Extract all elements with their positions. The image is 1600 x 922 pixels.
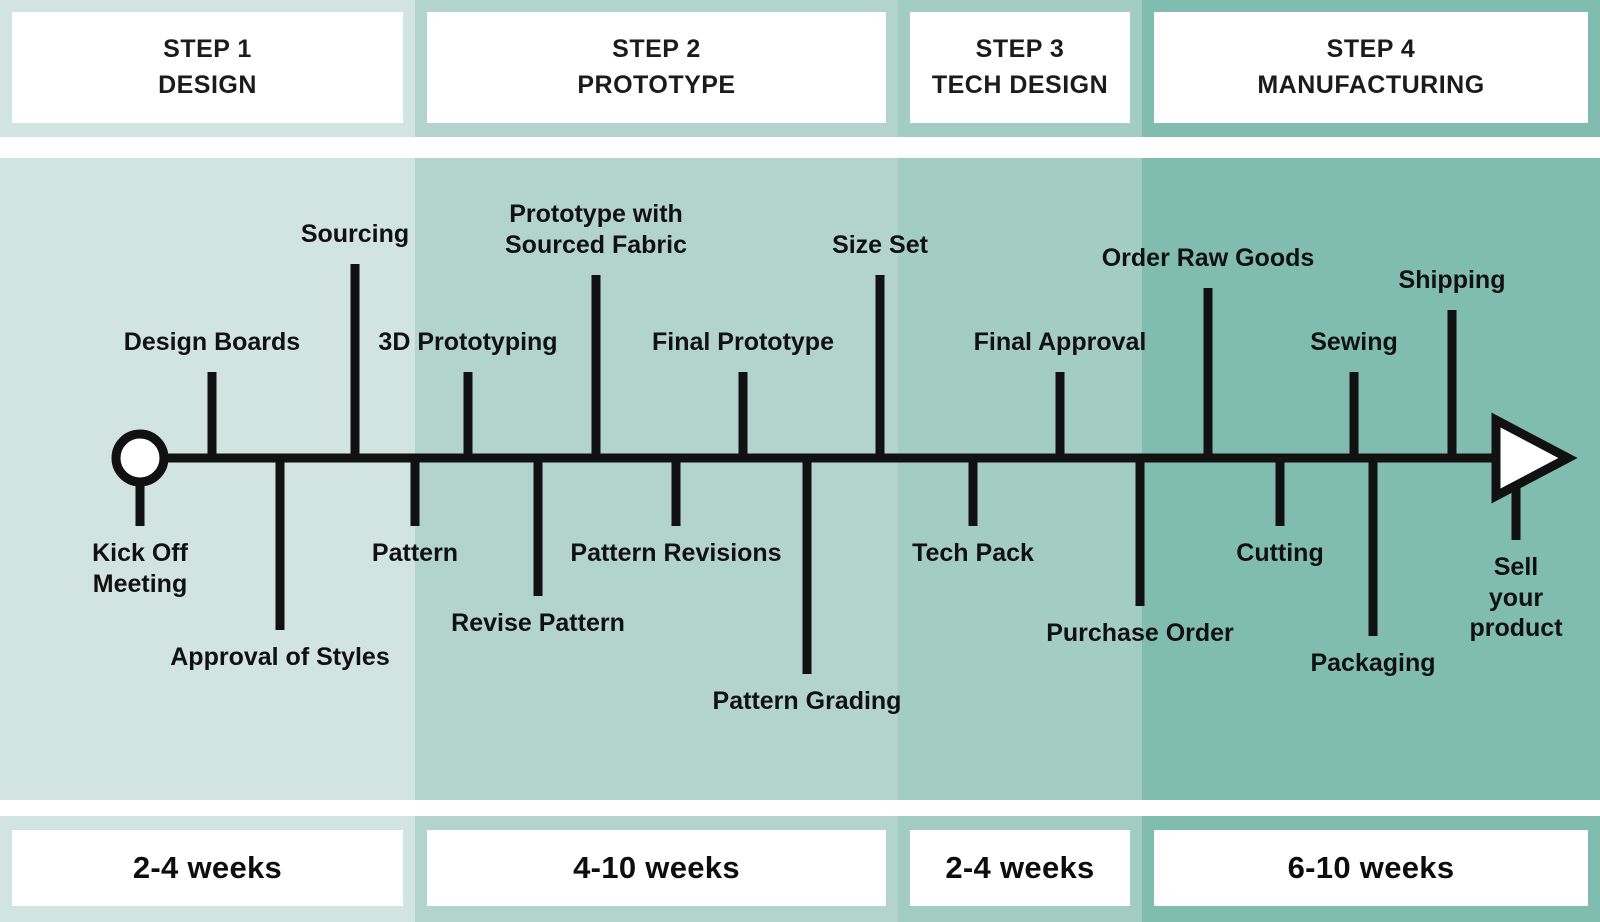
milestone-label-pattern-grading: Pattern Grading (713, 686, 902, 717)
duration-box-step-2[interactable]: 4-10 weeks (427, 830, 886, 906)
header-box-step-1[interactable]: STEP 1DESIGN (12, 12, 403, 123)
timeline-start-circle-icon (116, 434, 164, 482)
milestone-label-packaging: Packaging (1310, 648, 1435, 679)
milestone-label-prototype-with-sourced-fabric: Prototype with Sourced Fabric (505, 199, 687, 260)
step-name-step-2: PROTOTYPE (577, 68, 735, 104)
step-name-step-1: DESIGN (158, 68, 257, 104)
step-number-step-4: STEP 4 (1327, 32, 1416, 68)
milestone-label-sourcing: Sourcing (301, 219, 409, 250)
timeline-infographic: STEP 1DESIGNSTEP 2PROTOTYPESTEP 3TECH DE… (0, 0, 1600, 922)
milestone-label-pattern: Pattern (372, 538, 458, 569)
header-box-step-2[interactable]: STEP 2PROTOTYPE (427, 12, 886, 123)
step-name-step-4: MANUFACTURING (1257, 68, 1484, 104)
milestone-label-size-set: Size Set (832, 230, 928, 261)
step-number-step-1: STEP 1 (163, 32, 252, 68)
milestone-label-final-approval: Final Approval (974, 327, 1147, 358)
steps-header-row: STEP 1DESIGNSTEP 2PROTOTYPESTEP 3TECH DE… (0, 0, 1600, 137)
step-name-step-3: TECH DESIGN (932, 68, 1108, 104)
header-box-step-4[interactable]: STEP 4MANUFACTURING (1154, 12, 1588, 123)
timeline-end-arrow-icon (1496, 420, 1568, 496)
duration-box-step-1[interactable]: 2-4 weeks (12, 830, 403, 906)
milestone-label-sewing: Sewing (1310, 327, 1398, 358)
duration-band-step-1: 2-4 weeks (0, 816, 415, 922)
step-number-step-2: STEP 2 (612, 32, 701, 68)
duration-band-step-4: 6-10 weeks (1142, 816, 1600, 922)
milestone-label-approval-of-styles: Approval of Styles (170, 642, 390, 673)
duration-text-step-3: 2-4 weeks (945, 850, 1094, 886)
duration-box-step-3[interactable]: 2-4 weeks (910, 830, 1130, 906)
header-band-step-3: STEP 3TECH DESIGN (898, 0, 1142, 137)
milestone-label-pattern-revisions: Pattern Revisions (570, 538, 781, 569)
header-band-step-4: STEP 4MANUFACTURING (1142, 0, 1600, 137)
header-band-step-1: STEP 1DESIGN (0, 0, 415, 137)
durations-row: 2-4 weeks4-10 weeks2-4 weeks6-10 weeks (0, 816, 1600, 922)
milestone-label-sell-your-product: Sell your product (1469, 552, 1562, 644)
milestone-label-design-boards: Design Boards (124, 327, 300, 358)
duration-text-step-2: 4-10 weeks (573, 850, 740, 886)
milestone-label-revise-pattern: Revise Pattern (451, 608, 625, 639)
milestone-label-final-prototype: Final Prototype (652, 327, 834, 358)
milestone-label-shipping: Shipping (1399, 265, 1506, 296)
milestone-label-purchase-order: Purchase Order (1046, 618, 1234, 649)
duration-text-step-1: 2-4 weeks (133, 850, 282, 886)
header-box-step-3[interactable]: STEP 3TECH DESIGN (910, 12, 1130, 123)
duration-text-step-4: 6-10 weeks (1288, 850, 1455, 886)
milestone-label-tech-pack: Tech Pack (912, 538, 1034, 569)
milestone-label-kick-off-meeting: Kick Off Meeting (92, 538, 188, 599)
duration-box-step-4[interactable]: 6-10 weeks (1154, 830, 1588, 906)
milestone-label-order-raw-goods: Order Raw Goods (1102, 243, 1315, 274)
milestone-label-cutting: Cutting (1236, 538, 1323, 569)
duration-band-step-3: 2-4 weeks (898, 816, 1142, 922)
header-band-step-2: STEP 2PROTOTYPE (415, 0, 898, 137)
step-number-step-3: STEP 3 (976, 32, 1065, 68)
milestone-label-3d-prototyping: 3D Prototyping (378, 327, 557, 358)
timeline-chart-area: Kick Off MeetingDesign BoardsApproval of… (0, 158, 1600, 800)
duration-band-step-2: 4-10 weeks (415, 816, 898, 922)
